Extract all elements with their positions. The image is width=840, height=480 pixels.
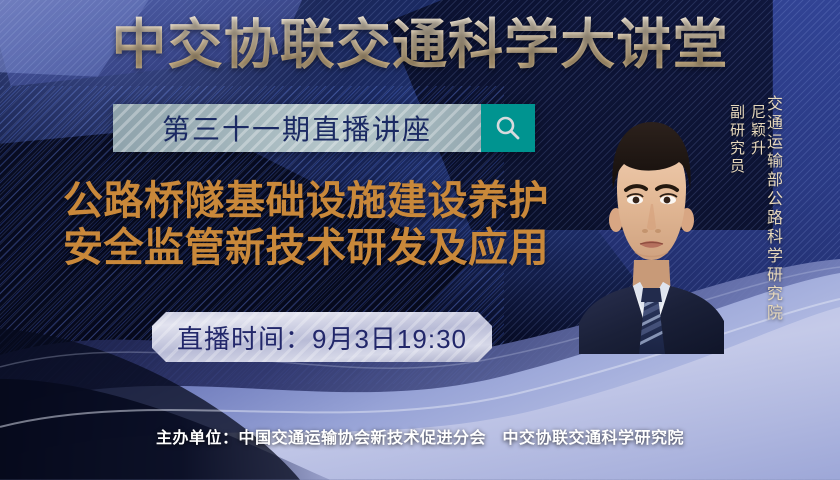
episode-label-field: 第三十一期直播讲座 (113, 104, 481, 152)
episode-label: 第三十一期直播讲座 (162, 108, 432, 148)
topic-line-1: 公路桥隧基础设施建设养护 (26, 178, 586, 225)
topic-heading: 公路桥隧基础设施建设养护 安全监管新技术研发及应用 (26, 178, 586, 272)
search-button[interactable] (481, 104, 535, 152)
search-icon (493, 113, 523, 143)
live-stream-poster: 中交协联交通科学大讲堂 第三十一期直播讲座 公路桥隧基础设施建设养护 安全监管新… (0, 0, 840, 480)
organizer-footer: 主办单位：中国交通运输协会新技术促进分会 中交协联交通科学研究院 (0, 424, 840, 448)
episode-bar: 第三十一期直播讲座 (113, 104, 535, 152)
speaker-organization: 交通运输部公路科学研究院 (760, 95, 784, 323)
page-title: 中交协联交通科学大讲堂 (0, 14, 840, 76)
speaker-title: 副研究员 (728, 104, 745, 176)
broadcast-time-text: 直播时间：9月3日19:30 (177, 319, 467, 356)
topic-line-2: 安全监管新技术研发及应用 (26, 225, 586, 272)
broadcast-time-badge: 直播时间：9月3日19:30 (152, 312, 492, 362)
speaker-photo (579, 92, 724, 354)
